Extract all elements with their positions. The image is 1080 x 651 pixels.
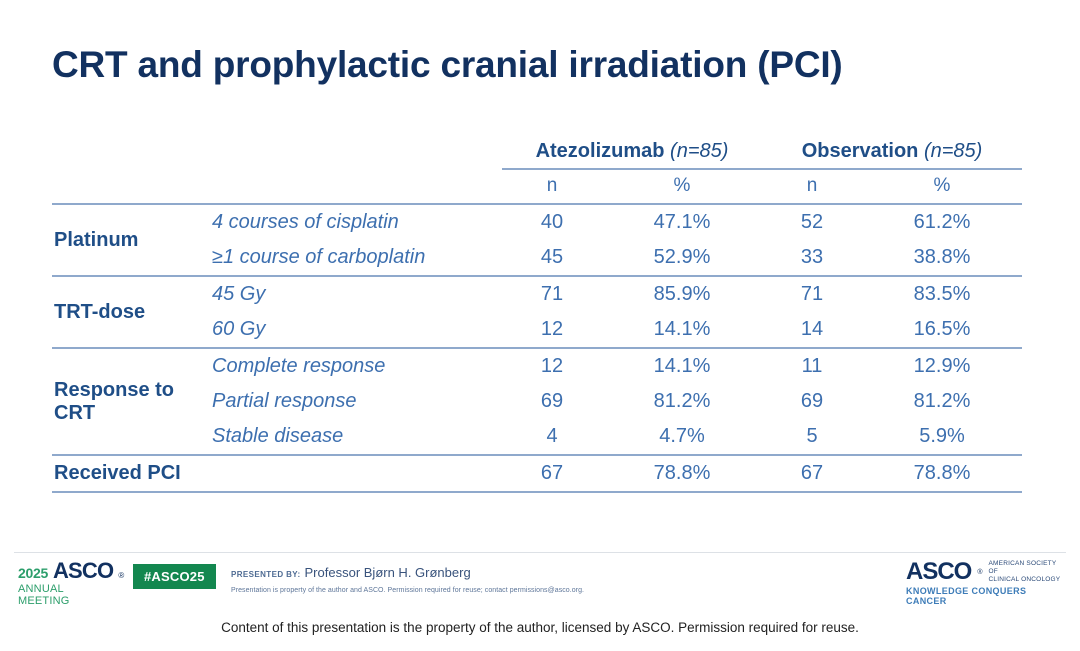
cell-atezo-pct: 78.8% — [602, 455, 762, 492]
page-title: CRT and prophylactic cranial irradiation… — [52, 44, 1012, 86]
results-table: Atezolizumab (n=85) Observation (n=85) n… — [52, 138, 1022, 493]
registered-mark-icon: ® — [118, 571, 124, 580]
header-spacer-group — [52, 138, 210, 169]
row-label: Stable disease — [210, 419, 502, 455]
meeting-subtitle: ANNUAL MEETING — [18, 583, 118, 607]
group-n-atezolizumab: (n=85) — [670, 140, 728, 162]
section-label-trt-dose: TRT-dose — [52, 276, 210, 348]
section-label-platinum: Platinum — [52, 204, 210, 276]
cell-obs-pct: 78.8% — [862, 455, 1022, 492]
presenter-block: PRESENTED BY:Professor Bjørn H. Grønberg… — [231, 564, 651, 594]
group-header-row: Atezolizumab (n=85) Observation (n=85) — [52, 138, 1022, 169]
data-table-container: Atezolizumab (n=85) Observation (n=85) n… — [52, 138, 1022, 493]
cell-obs-pct: 61.2% — [862, 204, 1022, 240]
cell-obs-n: 14 — [762, 312, 862, 348]
row-label: 45 Gy — [210, 276, 502, 312]
hashtag-badge: #ASCO25 — [133, 564, 216, 589]
cell-obs-pct: 81.2% — [862, 384, 1022, 419]
subheader-obs-n: n — [762, 169, 862, 204]
subheader-obs-pct: % — [862, 169, 1022, 204]
cell-atezo-pct: 14.1% — [602, 312, 762, 348]
group-name-atezolizumab: Atezolizumab — [536, 140, 665, 162]
cell-atezo-n: 45 — [502, 240, 602, 276]
cell-atezo-pct: 85.9% — [602, 276, 762, 312]
cell-obs-n: 33 — [762, 240, 862, 276]
subheader-spacer-group — [52, 169, 210, 204]
footer-divider — [14, 552, 1066, 553]
asco-society-logo: ASCO® AMERICAN SOCIETY OF CLINICAL ONCOL… — [906, 560, 1066, 606]
presented-by-label: PRESENTED BY: — [231, 570, 301, 579]
table-row: Platinum 4 courses of cisplatin 40 47.1%… — [52, 204, 1022, 240]
cell-obs-pct: 83.5% — [862, 276, 1022, 312]
row-label — [210, 455, 502, 492]
society-tagline: KNOWLEDGE CONQUERS CANCER — [906, 586, 1066, 606]
cell-atezo-pct: 52.9% — [602, 240, 762, 276]
society-logo-row-1: ASCO® AMERICAN SOCIETY OF CLINICAL ONCOL… — [906, 560, 1066, 584]
meeting-logo-row-1: 2025 ASCO® — [18, 560, 118, 582]
cell-obs-pct: 12.9% — [862, 348, 1022, 384]
registered-mark-icon: ® — [977, 569, 982, 576]
group-n-observation: (n=85) — [924, 140, 982, 162]
cell-obs-n: 71 — [762, 276, 862, 312]
asco-wordmark: ASCO — [53, 560, 113, 582]
society-name-line-1: AMERICAN SOCIETY OF — [989, 560, 1057, 575]
row-label: 4 courses of cisplatin — [210, 204, 502, 240]
cell-atezo-pct: 47.1% — [602, 204, 762, 240]
section-label-received-pci: Received PCI — [52, 455, 210, 492]
row-label: ≥1 course of carboplatin — [210, 240, 502, 276]
meeting-year: 2025 — [18, 565, 48, 581]
presenter-name: Professor Bjørn H. Grønberg — [305, 565, 471, 580]
row-label: Partial response — [210, 384, 502, 419]
table-row: Response to CRT Complete response 12 14.… — [52, 348, 1022, 384]
cell-atezo-n: 4 — [502, 419, 602, 455]
row-label: Complete response — [210, 348, 502, 384]
section-label-response-to-crt: Response to CRT — [52, 348, 210, 455]
bottom-caption: Content of this presentation is the prop… — [0, 620, 1080, 635]
sub-header-row: n % n % — [52, 169, 1022, 204]
asco-society-wordmark: ASCO — [906, 560, 971, 584]
cell-atezo-n: 69 — [502, 384, 602, 419]
table-row-received-pci: Received PCI 67 78.8% 67 78.8% — [52, 455, 1022, 492]
cell-obs-pct: 38.8% — [862, 240, 1022, 276]
table-body: Platinum 4 courses of cisplatin 40 47.1%… — [52, 204, 1022, 492]
copyright-fine-print: Presentation is property of the author a… — [231, 587, 651, 594]
cell-obs-n: 67 — [762, 455, 862, 492]
table-head: Atezolizumab (n=85) Observation (n=85) n… — [52, 138, 1022, 204]
cell-obs-n: 11 — [762, 348, 862, 384]
row-label: 60 Gy — [210, 312, 502, 348]
society-name-line-2: CLINICAL ONCOLOGY — [989, 576, 1061, 583]
subheader-atezo-n: n — [502, 169, 602, 204]
cell-atezo-n: 71 — [502, 276, 602, 312]
cell-atezo-n: 67 — [502, 455, 602, 492]
cell-obs-n: 5 — [762, 419, 862, 455]
society-full-name: AMERICAN SOCIETY OF CLINICAL ONCOLOGY — [989, 560, 1066, 584]
cell-atezo-pct: 4.7% — [602, 419, 762, 455]
cell-atezo-n: 12 — [502, 348, 602, 384]
cell-obs-pct: 16.5% — [862, 312, 1022, 348]
header-spacer-label — [210, 138, 502, 169]
cell-atezo-n: 40 — [502, 204, 602, 240]
cell-obs-n: 52 — [762, 204, 862, 240]
cell-atezo-pct: 81.2% — [602, 384, 762, 419]
slide-canvas: CRT and prophylactic cranial irradiation… — [0, 0, 1080, 651]
asco-annual-meeting-logo: 2025 ASCO® ANNUAL MEETING — [18, 560, 118, 607]
cell-obs-pct: 5.9% — [862, 419, 1022, 455]
subheader-spacer-label — [210, 169, 502, 204]
group-name-observation: Observation — [802, 140, 919, 162]
column-group-observation: Observation (n=85) — [762, 138, 1022, 169]
subheader-atezo-pct: % — [602, 169, 762, 204]
column-group-atezolizumab: Atezolizumab (n=85) — [502, 138, 762, 169]
cell-atezo-pct: 14.1% — [602, 348, 762, 384]
presenter-line: PRESENTED BY:Professor Bjørn H. Grønberg — [231, 564, 651, 582]
cell-obs-n: 69 — [762, 384, 862, 419]
slide-footer: 2025 ASCO® ANNUAL MEETING #ASCO25 PRESEN… — [0, 556, 1080, 611]
cell-atezo-n: 12 — [502, 312, 602, 348]
table-row: TRT-dose 45 Gy 71 85.9% 71 83.5% — [52, 276, 1022, 312]
